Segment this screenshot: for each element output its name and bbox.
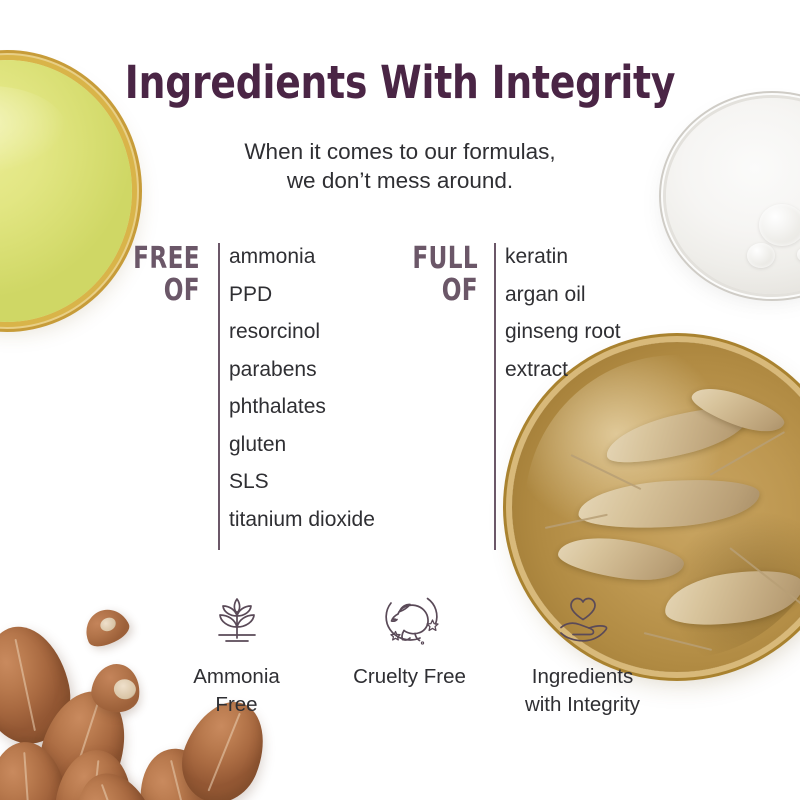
list-item: ginseng root: [505, 313, 621, 351]
hand-heart-icon: [548, 585, 618, 655]
list-item: argan oil: [505, 276, 621, 314]
free-of-list: ammonia PPD resorcinol parabens phthalat…: [229, 238, 375, 538]
list-item: extract: [505, 351, 621, 389]
badge-row: Ammonia Free: [150, 585, 670, 719]
plant-sprout-icon: [202, 585, 272, 655]
free-of-label-line-1: FREE: [114, 243, 200, 275]
list-item: parabens: [229, 351, 375, 389]
list-item: phthalates: [229, 388, 375, 426]
list-item: gluten: [229, 426, 375, 464]
leaping-bunny-icon: [375, 585, 445, 655]
list-item: keratin: [505, 238, 621, 276]
badge-cruelty-free: Cruelty Free: [323, 585, 496, 691]
badge-label: Ingredients with Integrity: [525, 663, 640, 719]
free-of-divider: [218, 243, 220, 550]
page-title: Ingredients With Integrity: [28, 56, 772, 109]
full-of-list: keratin argan oil ginseng root extract: [505, 238, 621, 388]
full-of-label-line-2: OF: [392, 275, 478, 307]
badge-ammonia-free: Ammonia Free: [150, 585, 323, 719]
list-item: ammonia: [229, 238, 375, 276]
free-of-label: FREE OF: [114, 243, 200, 307]
ingredients-with-integrity-graphic: Ingredients With Integrity When it comes…: [0, 0, 800, 800]
badge-label: Ammonia Free: [193, 663, 280, 719]
list-item: SLS: [229, 463, 375, 501]
list-item: resorcinol: [229, 313, 375, 351]
full-of-label: FULL OF: [392, 243, 478, 307]
badge-label: Cruelty Free: [353, 663, 466, 691]
full-of-label-line-1: FULL: [392, 243, 478, 275]
list-item: PPD: [229, 276, 375, 314]
free-of-label-line-2: OF: [114, 275, 200, 307]
list-item: titanium dioxide: [229, 501, 375, 539]
full-of-divider: [494, 243, 496, 550]
badge-ingredients-with-integrity: Ingredients with Integrity: [496, 585, 669, 719]
page-subtitle: When it comes to our formulas, we don’t …: [0, 137, 800, 195]
